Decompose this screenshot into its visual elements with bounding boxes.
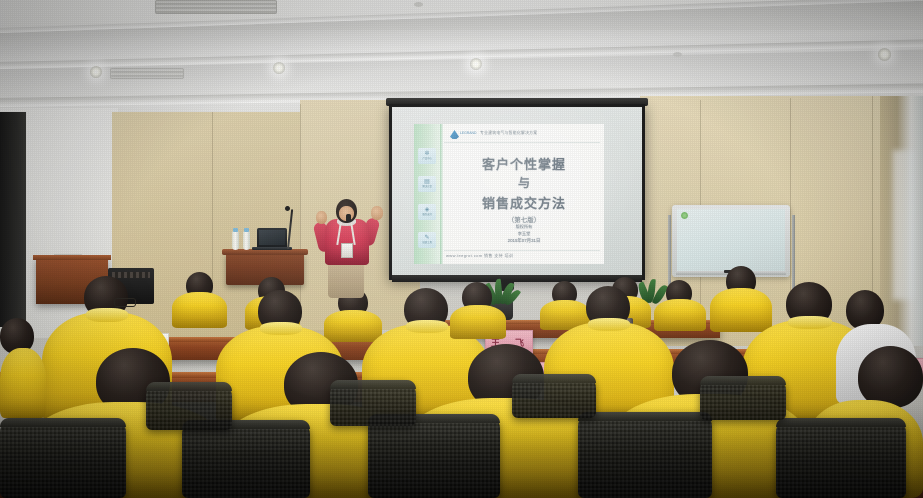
slide-tile-caption: 服务支持 bbox=[422, 214, 431, 216]
smoke-detector bbox=[673, 52, 682, 57]
attendee-torso bbox=[172, 292, 227, 328]
chair-rim bbox=[776, 418, 906, 427]
slide-sidebar-tile-1: ✲ 产品中心 bbox=[418, 148, 436, 164]
attendee-collar bbox=[406, 320, 448, 333]
attendee-torso bbox=[450, 305, 506, 339]
attendee-head-foreground bbox=[858, 346, 923, 408]
office-chair[interactable] bbox=[512, 374, 596, 418]
ceiling-spotlight bbox=[90, 66, 102, 78]
attendee-torso bbox=[710, 288, 772, 332]
eyeglasses-icon bbox=[114, 298, 136, 307]
attendee-torso bbox=[324, 310, 382, 342]
slide-footer-text: www.leegrot.com 销售 支持 培训 bbox=[446, 253, 513, 259]
brand-logo-icon bbox=[450, 130, 459, 139]
side-cabinet-top bbox=[33, 255, 111, 260]
slide-title-line-1: 客户个性掌握 bbox=[444, 154, 604, 173]
attendee-collar bbox=[86, 308, 128, 322]
window-glare bbox=[893, 150, 915, 300]
presenter-left-hand bbox=[316, 211, 327, 224]
office-chair[interactable] bbox=[330, 380, 416, 426]
laptop-screen bbox=[259, 230, 285, 245]
slide-sidebar-tile-4: ✎ 培训工具 bbox=[418, 232, 436, 248]
attendee-torso bbox=[0, 348, 46, 418]
office-chair[interactable] bbox=[146, 382, 232, 430]
chair-rim bbox=[512, 374, 596, 383]
slide-footer-rule bbox=[444, 250, 600, 251]
whiteboard-surface[interactable] bbox=[677, 209, 785, 271]
water-bottle[interactable] bbox=[232, 231, 239, 250]
door-edge bbox=[0, 112, 26, 327]
chair-rim bbox=[700, 376, 786, 385]
slide-tile-caption: 解决方案 bbox=[422, 186, 431, 188]
office-chair[interactable] bbox=[776, 418, 906, 498]
whiteboard-sticker-icon bbox=[681, 212, 688, 219]
slide-sidebar-tile-2: ▤ 解决方案 bbox=[418, 176, 436, 192]
office-chair[interactable] bbox=[700, 376, 786, 420]
laptop-base bbox=[252, 247, 292, 250]
wall-seam bbox=[872, 96, 873, 311]
air-vent bbox=[155, 0, 277, 14]
ceiling-spotlight bbox=[878, 48, 891, 61]
bottle-cap bbox=[244, 228, 249, 232]
presenter-trousers bbox=[328, 262, 364, 298]
slide-author: 李玉堂 bbox=[444, 231, 604, 237]
office-chair[interactable] bbox=[368, 414, 500, 498]
wall-seam bbox=[790, 98, 791, 313]
attendee-collar bbox=[788, 316, 832, 329]
office-chair[interactable] bbox=[182, 420, 310, 498]
slide-title-line-3: 销售成交方法 bbox=[444, 193, 604, 212]
slide-tile-caption: 培训工具 bbox=[422, 242, 431, 244]
office-chair[interactable] bbox=[0, 418, 126, 498]
whiteboard-stand-leg bbox=[792, 215, 795, 295]
bottle-cap bbox=[233, 228, 238, 232]
screen-bottom-bar bbox=[392, 275, 642, 282]
slide-sidebar-tile-3: ◈ 服务支持 bbox=[418, 204, 436, 220]
attendee-collar bbox=[588, 318, 630, 331]
slide-date: 2015年07月31日 bbox=[444, 238, 604, 244]
slide-header-text: 专业建筑电气与智能化解决方案 bbox=[480, 131, 537, 136]
attendee-torso bbox=[654, 299, 706, 331]
conference-room-photo: ✲ 产品中心 ▤ 解决方案 ◈ 服务支持 ✎ 培训工具 LEGRAND 专业建筑… bbox=[0, 0, 923, 498]
slide-edition: （第七版） bbox=[444, 214, 604, 224]
ceiling-spotlight bbox=[273, 62, 285, 74]
presenter-right-hand bbox=[371, 206, 383, 220]
air-vent-secondary bbox=[110, 68, 184, 79]
ceiling-spotlight bbox=[470, 58, 482, 70]
attendee-collar bbox=[260, 322, 302, 335]
chair-rim bbox=[578, 412, 712, 421]
chair-rim bbox=[330, 380, 416, 389]
presenter-badge bbox=[341, 243, 353, 258]
slide-logo: LEGRAND bbox=[450, 129, 472, 140]
smoke-detector bbox=[414, 2, 423, 7]
chair-rim bbox=[146, 382, 232, 391]
chair-rim bbox=[0, 418, 126, 427]
slide-tile-caption: 产品中心 bbox=[422, 158, 431, 160]
slide-header-rule bbox=[444, 142, 600, 143]
water-bottle[interactable] bbox=[243, 231, 250, 250]
av-equipment-knobs[interactable] bbox=[112, 272, 150, 278]
slide-logo-text: LEGRAND bbox=[460, 131, 476, 135]
office-chair[interactable] bbox=[578, 412, 712, 498]
slide-copyright: 版权所有 bbox=[444, 224, 604, 230]
presenter-microphone bbox=[346, 214, 351, 222]
projected-slide: ✲ 产品中心 ▤ 解决方案 ◈ 服务支持 ✎ 培训工具 LEGRAND 专业建筑… bbox=[414, 124, 604, 264]
microphone-head-icon bbox=[285, 206, 290, 211]
slide-sidebar-edge bbox=[440, 124, 443, 264]
slide-title-line-2: 与 bbox=[444, 174, 604, 191]
